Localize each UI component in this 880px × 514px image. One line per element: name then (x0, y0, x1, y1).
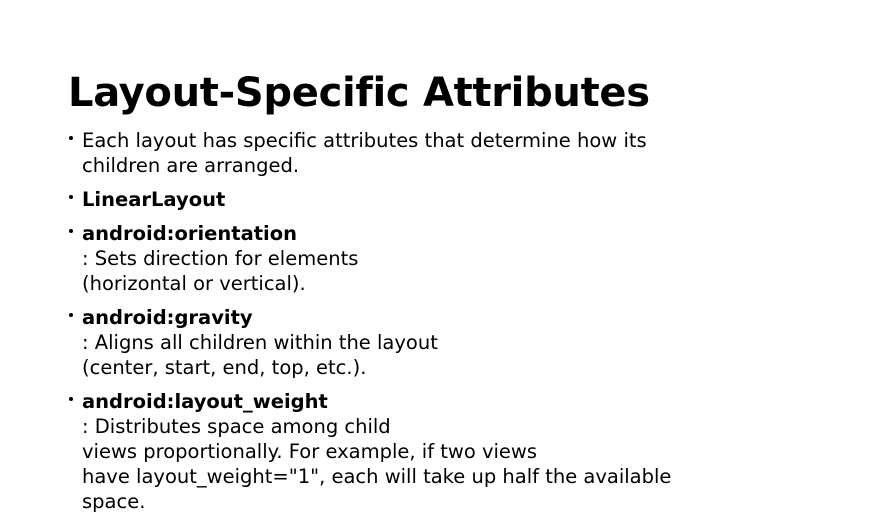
list-item: android:orientation: Sets direction for … (66, 221, 826, 296)
list-item-text: : Aligns all children within the layout … (82, 330, 826, 380)
list-item: android:layout_weight: Distributes space… (66, 389, 826, 514)
list-item-text: Each layout has specific attributes that… (82, 128, 826, 178)
list-item-term: android:layout_weight (82, 390, 328, 413)
list-item: Each layout has specific attributes that… (66, 128, 826, 178)
bullet-dot-icon (69, 397, 73, 401)
list-item: android:gravity: Aligns all children wit… (66, 305, 826, 380)
list-item-term: android:gravity (82, 306, 253, 329)
bullet-dot-icon (69, 136, 73, 140)
bullet-dot-icon (69, 195, 73, 199)
bullet-dot-icon (69, 313, 73, 317)
bullet-list: Each layout has specific attributes that… (66, 128, 826, 514)
list-item-text: : Distributes space among child views pr… (82, 414, 826, 514)
list-item-text: : Sets direction for elements (horizonta… (82, 246, 826, 296)
list-item: LinearLayout (66, 187, 826, 212)
slide-canvas: Layout-Specific Attributes Each layout h… (0, 0, 880, 495)
page-title: Layout-Specific Attributes (68, 71, 650, 116)
list-item-term: android:orientation (82, 222, 297, 245)
list-item-text: LinearLayout (82, 187, 826, 212)
bullet-dot-icon (69, 229, 73, 233)
